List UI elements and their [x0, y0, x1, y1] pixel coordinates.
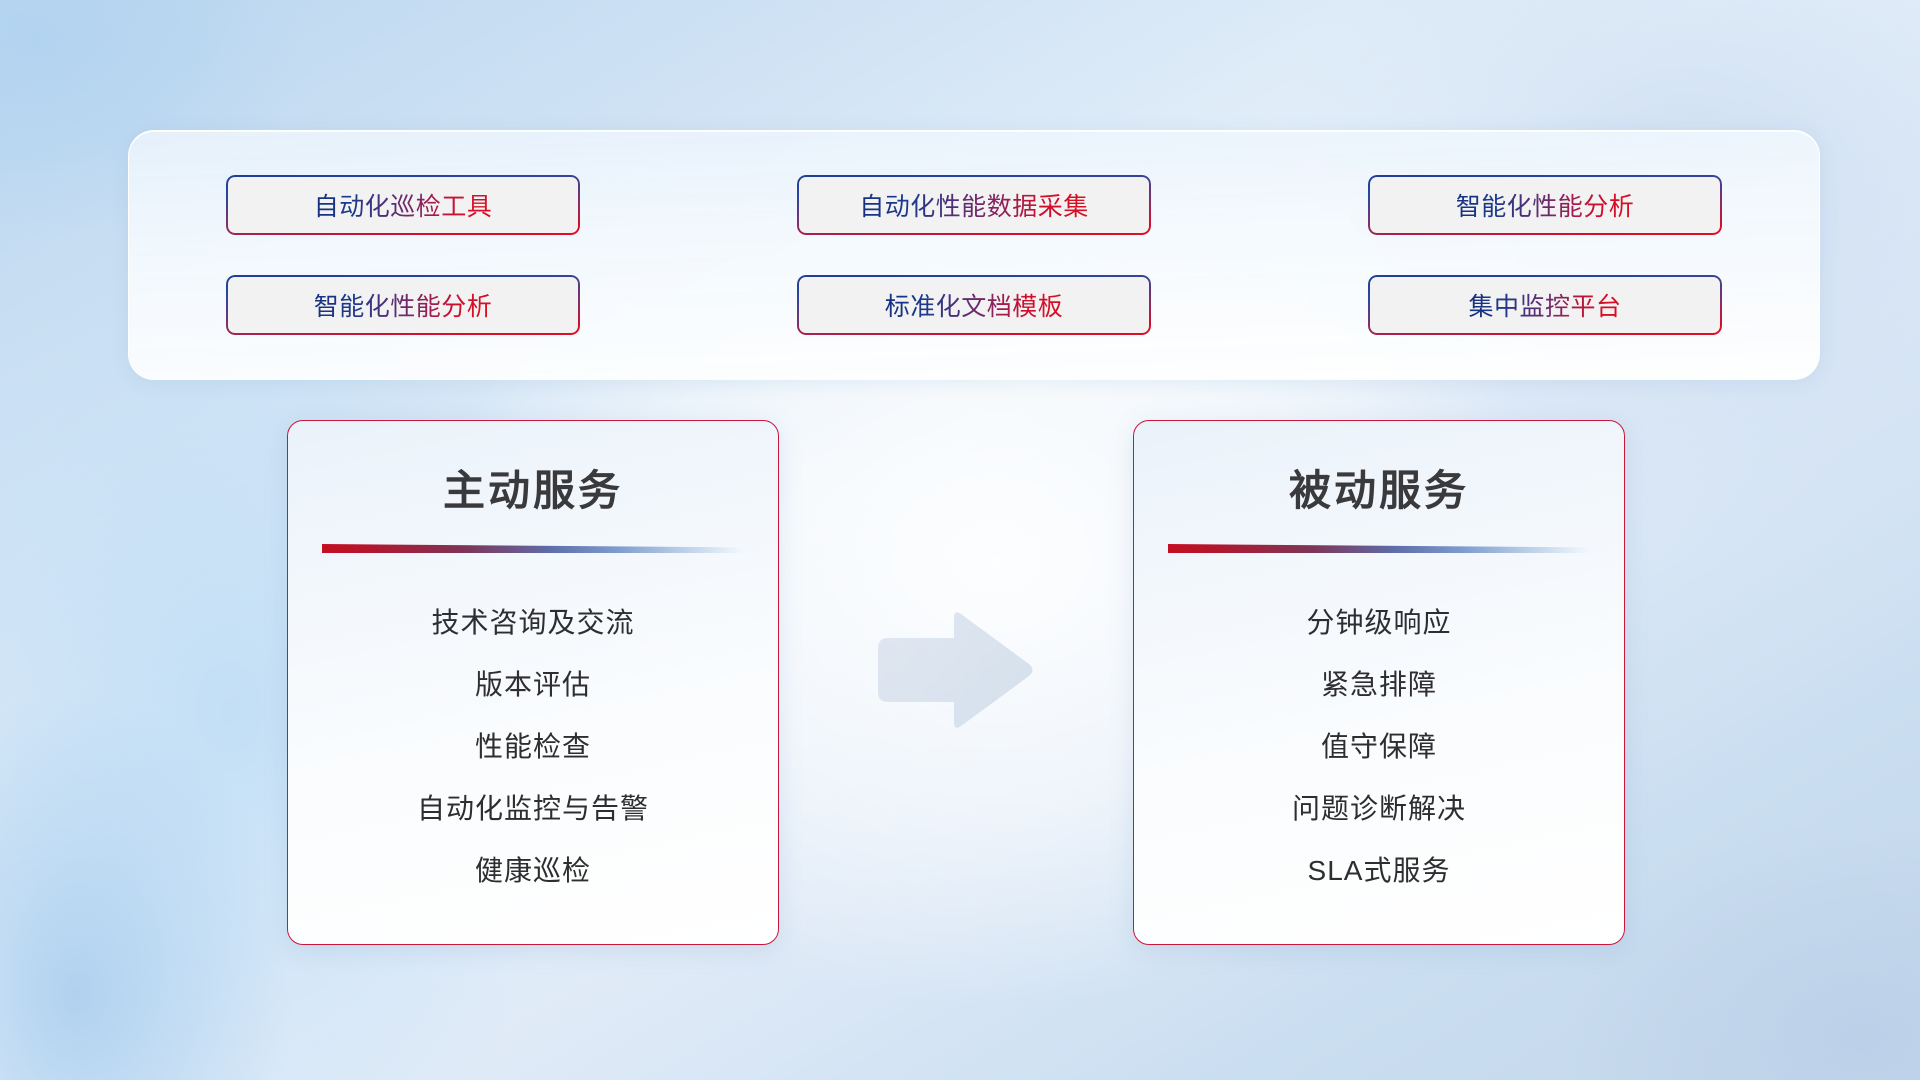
- service-list-item: 问题诊断解决: [1156, 778, 1602, 840]
- card-title-divider: [322, 544, 744, 558]
- service-list-item: 紧急排障: [1156, 654, 1602, 716]
- capability-chip-label: 集中监控平台: [1468, 287, 1621, 323]
- capability-chip-label: 标准化文档模板: [885, 287, 1064, 323]
- capability-tags-panel: 自动化巡检工具 自动化性能数据采集 智能化性能分析 智能化性能分析 标准化文档模…: [128, 130, 1820, 380]
- service-list-item: 技术咨询及交流: [310, 592, 756, 654]
- capability-chip[interactable]: 标准化文档模板: [797, 275, 1151, 335]
- capability-chip-label: 自动化巡检工具: [314, 187, 493, 223]
- capability-chip[interactable]: 集中监控平台: [1368, 275, 1722, 335]
- service-list-item: 健康巡检: [310, 840, 756, 902]
- service-list-item: 性能检查: [310, 716, 756, 778]
- capability-chip-grid: 自动化巡检工具 自动化性能数据采集 智能化性能分析 智能化性能分析 标准化文档模…: [129, 131, 1819, 379]
- service-list-item: SLA式服务: [1156, 840, 1602, 902]
- service-list-item: 分钟级响应: [1156, 592, 1602, 654]
- service-list-item: 版本评估: [310, 654, 756, 716]
- service-list-item: 值守保障: [1156, 716, 1602, 778]
- service-item-list: 技术咨询及交流 版本评估 性能检查 自动化监控与告警 健康巡检: [288, 592, 778, 902]
- service-item-list: 分钟级响应 紧急排障 值守保障 问题诊断解决 SLA式服务: [1134, 592, 1624, 902]
- capability-chip-label: 智能化性能分析: [314, 287, 493, 323]
- capability-chip[interactable]: 智能化性能分析: [1368, 175, 1722, 235]
- card-title-divider: [1168, 544, 1590, 558]
- service-list-item: 自动化监控与告警: [310, 778, 756, 840]
- capability-chip[interactable]: 智能化性能分析: [226, 275, 580, 335]
- capability-chip-label: 智能化性能分析: [1456, 187, 1635, 223]
- card-title: 主动服务: [288, 457, 778, 518]
- card-title: 被动服务: [1134, 457, 1624, 518]
- service-card-reactive: 被动服务 分钟级响应 紧急排障 值守保障 问题诊断解决 SLA式服务: [1133, 420, 1625, 945]
- capability-chip[interactable]: 自动化性能数据采集: [797, 175, 1151, 235]
- arrow-right-icon: [874, 610, 1034, 730]
- card-title-divider-bar: [322, 544, 744, 553]
- capability-chip[interactable]: 自动化巡检工具: [226, 175, 580, 235]
- card-title-divider-bar: [1168, 544, 1590, 553]
- service-card-proactive: 主动服务 技术咨询及交流 版本评估 性能检查 自动化监控与告警 健康巡检: [287, 420, 779, 945]
- capability-chip-label: 自动化性能数据采集: [859, 187, 1089, 223]
